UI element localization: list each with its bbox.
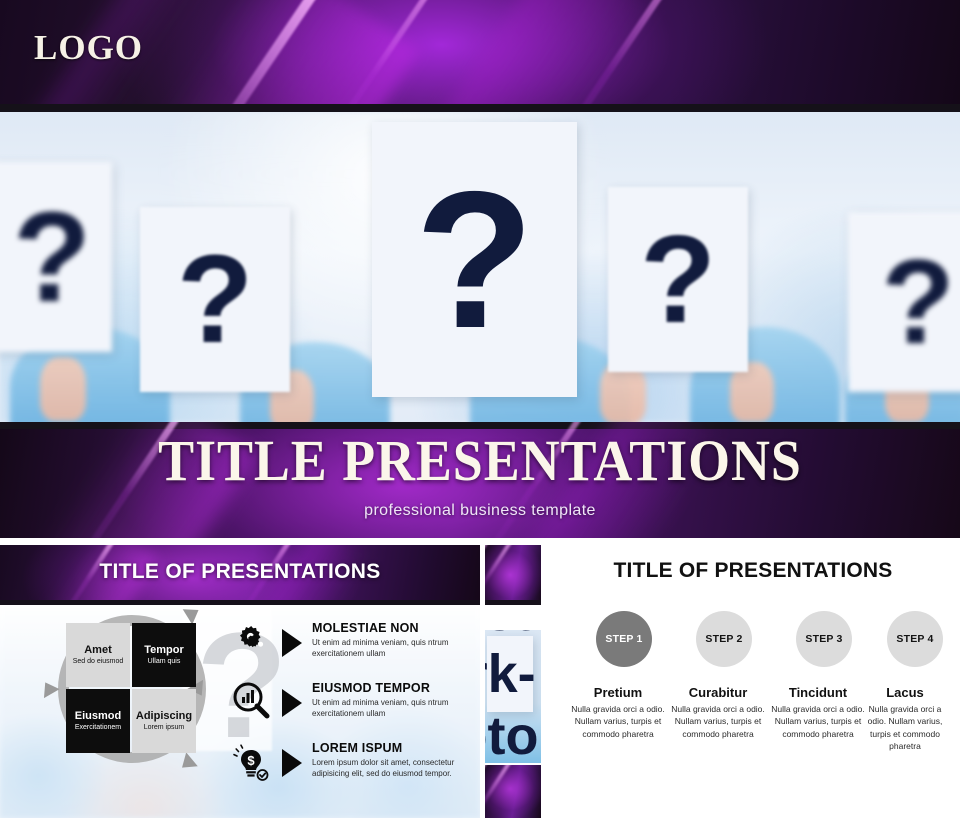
bullet-arrow-icon-2 — [282, 689, 302, 717]
cycle-quadrant-tempor: Tempor Ullam quis — [132, 623, 196, 687]
cycle-quadrant-sub: Lorem ipsum — [144, 724, 184, 732]
hero-sheet-4: ? — [848, 212, 960, 392]
header-streak-1 — [162, 0, 338, 112]
hero-sheet-1: ? — [140, 207, 290, 392]
column-body: Nulla gravida orci a odio. Nullam varius… — [771, 703, 865, 740]
item-heading: EIUSMOD TEMPOR — [312, 681, 472, 695]
hero-sheet-3: ? — [608, 187, 748, 372]
cycle-diagram: Amet Sed do eiusmod Tempor Ullam quis Ei… — [66, 623, 198, 755]
column-heading: Curabitur — [671, 685, 765, 700]
column-heading: Pretium — [571, 685, 665, 700]
step-circle-4[interactable]: STEP 4 — [887, 611, 943, 667]
left-slide-body: ? Amet Sed do eiusmod Tempor Ullam quis — [0, 605, 480, 818]
step-circle-row: STEP 1 STEP 2 STEP 3 STEP 4 — [560, 611, 952, 681]
right-slide-title: TITLE OF PRESENTATIONS — [546, 559, 960, 583]
left-slide-icon-column: $ — [228, 619, 276, 809]
item-body: Ut enim ad minima veniam, quis ntrum exe… — [312, 698, 472, 720]
presentation-template-preview: LOGO ? ? ? ? ? TITLE PRESENTATIONS profe… — [0, 0, 960, 818]
bullet-arrow-icon-1 — [282, 629, 302, 657]
svg-text:$: $ — [247, 753, 255, 768]
hero-image: ? ? ? ? ? — [0, 112, 960, 422]
column-heading: Tincidunt — [771, 685, 865, 700]
logo: LOGO — [34, 28, 143, 68]
step-circle-1[interactable]: STEP 1 — [596, 611, 652, 667]
slide-thumbnail-row: TITLE OF PRESENTATIONS ? Amet Sed do eiu… — [0, 545, 960, 818]
hero-sheet-0: ? — [0, 162, 112, 352]
column-body: Nulla gravida orci a odio. Nullam varius… — [571, 703, 665, 740]
cycle-quadrant-eiusmod: Eiusmod Exercitationem — [66, 689, 130, 753]
lightbulb-dollar-icon: $ — [228, 739, 276, 787]
strip-top-rule — [485, 600, 541, 605]
column-body: Nulla gravida orci a odio. Nullam varius… — [862, 703, 948, 752]
left-slide-item-3: LOREM ISPUM Lorem ipsum dolor sit amet, … — [312, 741, 472, 780]
header-banner: LOGO — [0, 0, 960, 112]
page-subtitle: professional business template — [0, 502, 960, 520]
strip-sheet: question-mark-photo — [487, 636, 533, 712]
strip-photo: question-mark-photo — [485, 630, 541, 763]
column-heading: Lacus — [862, 685, 948, 700]
hero-sheet-2: ? — [372, 122, 577, 397]
strip-banner-bottom — [485, 765, 541, 818]
step-circle-3[interactable]: STEP 3 — [796, 611, 852, 667]
slide-thumbnail-right[interactable]: TITLE OF PRESENTATIONS STEP 1 STEP 2 STE… — [546, 545, 960, 818]
header-streak-3 — [510, 0, 706, 112]
step-column-1: Pretium Nulla gravida orci a odio. Nulla… — [571, 685, 665, 740]
step-column-3: Tincidunt Nulla gravida orci a odio. Nul… — [771, 685, 865, 740]
strip-streak-2 — [485, 545, 522, 605]
item-heading: MOLESTIAE NON — [312, 621, 472, 635]
column-body: Nulla gravida orci a odio. Nullam varius… — [671, 703, 765, 740]
gears-icon — [228, 619, 276, 667]
cycle-quadrant-adipiscing: Adipiscing Lorem ipsum — [132, 689, 196, 753]
step-column-4: Lacus Nulla gravida orci a odio. Nullam … — [862, 685, 948, 752]
cycle-quadrant-sub: Ullam quis — [148, 658, 181, 666]
cycle-quadrant-amet: Amet Sed do eiusmod — [66, 623, 130, 687]
slide-thumbnail-left[interactable]: TITLE OF PRESENTATIONS ? Amet Sed do eiu… — [0, 545, 480, 818]
item-body: Ut enim ad minima veniam, quis ntrum exe… — [312, 638, 472, 660]
strip-streak-4 — [485, 765, 520, 818]
cycle-quadrant-sub: Exercitationem — [75, 724, 121, 732]
step-column-2: Curabitur Nulla gravida orci a odio. Nul… — [671, 685, 765, 740]
slide-thumbnail-strip[interactable]: question-mark-photo — [485, 545, 541, 818]
bullet-arrow-icon-3 — [282, 749, 302, 777]
cycle-quadrant-label: Eiusmod — [75, 710, 121, 722]
cycle-quadrant-label: Tempor — [144, 644, 184, 656]
cycle-quadrant-sub: Sed do eiusmod — [73, 658, 124, 666]
hero-hand-1 — [40, 357, 86, 421]
left-slide-title: TITLE OF PRESENTATIONS — [0, 560, 480, 584]
strip-banner-top — [485, 545, 541, 605]
page-title: TITLE PRESENTATIONS — [34, 432, 927, 490]
header-streak-2 — [281, 0, 465, 112]
item-heading: LOREM ISPUM — [312, 741, 472, 755]
header-glow-3 — [375, 0, 659, 112]
left-slide-item-2: EIUSMOD TEMPOR Ut enim ad minima veniam,… — [312, 681, 472, 720]
cycle-quadrant-label: Amet — [84, 644, 112, 656]
item-body: Lorem ipsum dolor sit amet, consectetur … — [312, 758, 472, 780]
header-bottom-rule — [0, 104, 960, 112]
left-slide-item-1: MOLESTIAE NON Ut enim ad minima veniam, … — [312, 621, 472, 660]
step-circle-2[interactable]: STEP 2 — [696, 611, 752, 667]
cycle-quadrant-label: Adipiscing — [136, 710, 192, 722]
magnifier-chart-icon — [228, 677, 276, 725]
